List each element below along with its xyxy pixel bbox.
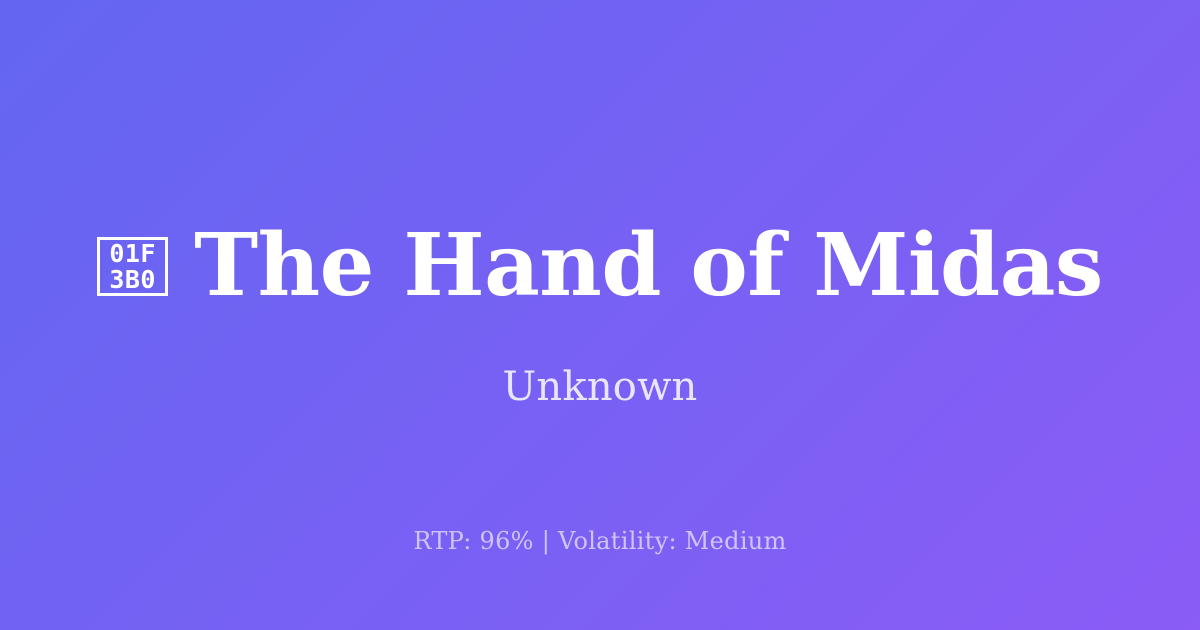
page-title: The Hand of Midas	[194, 222, 1103, 310]
title-row: 01F 3B0 The Hand of Midas	[0, 222, 1200, 310]
og-image-card: 01F 3B0 The Hand of Midas Unknown RTP: 9…	[0, 0, 1200, 630]
game-meta-line: RTP: 96% | Volatility: Medium	[0, 527, 1200, 556]
slot-machine-icon: 01F 3B0	[97, 237, 168, 296]
page-subtitle: Unknown	[0, 363, 1200, 411]
tofu-codepoint-bottom: 3B0	[109, 267, 156, 293]
tofu-codepoint-top: 01F	[109, 241, 156, 267]
